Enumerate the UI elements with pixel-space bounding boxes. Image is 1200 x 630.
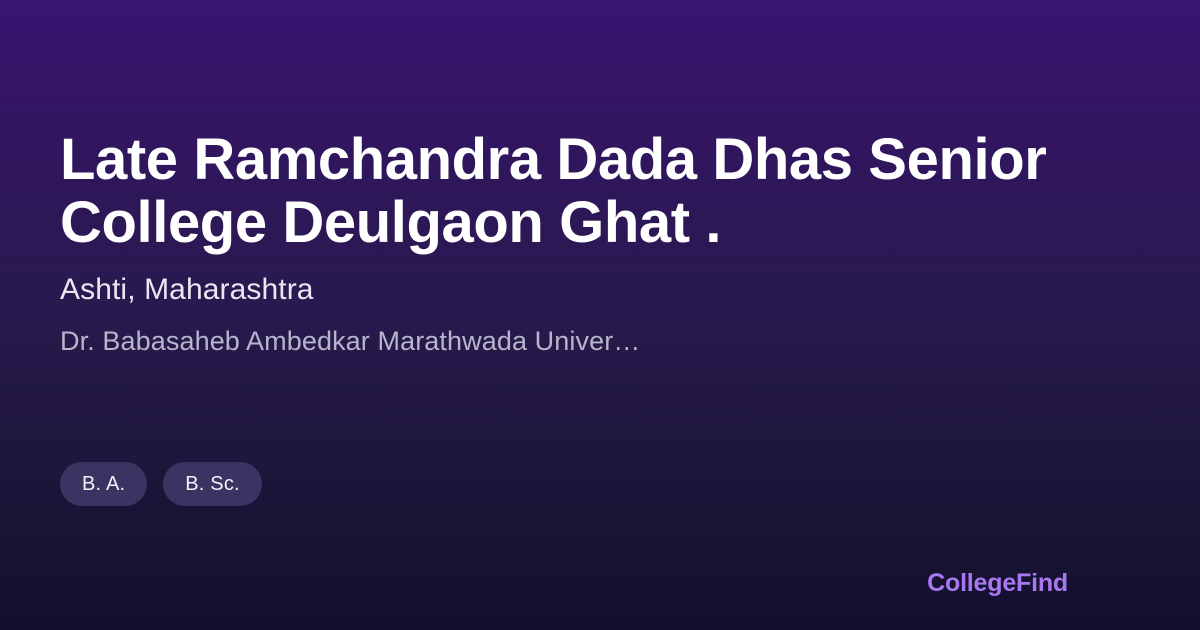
course-badge-ba: B. A. <box>60 462 147 506</box>
course-badge-list: B. A. B. Sc. <box>60 462 262 506</box>
brand-logo-collegefind: CollegeFind <box>927 568 1068 598</box>
page-title: Late Ramchandra Dada Dhas Senior College… <box>60 128 1065 254</box>
course-badge-bsc: B. Sc. <box>163 462 262 506</box>
affiliated-university: Dr. Babasaheb Ambedkar Marathwada Univer… <box>60 324 940 358</box>
og-share-card: Late Ramchandra Dada Dhas Senior College… <box>0 0 1200 630</box>
college-location: Ashti, Maharashtra <box>60 272 314 308</box>
